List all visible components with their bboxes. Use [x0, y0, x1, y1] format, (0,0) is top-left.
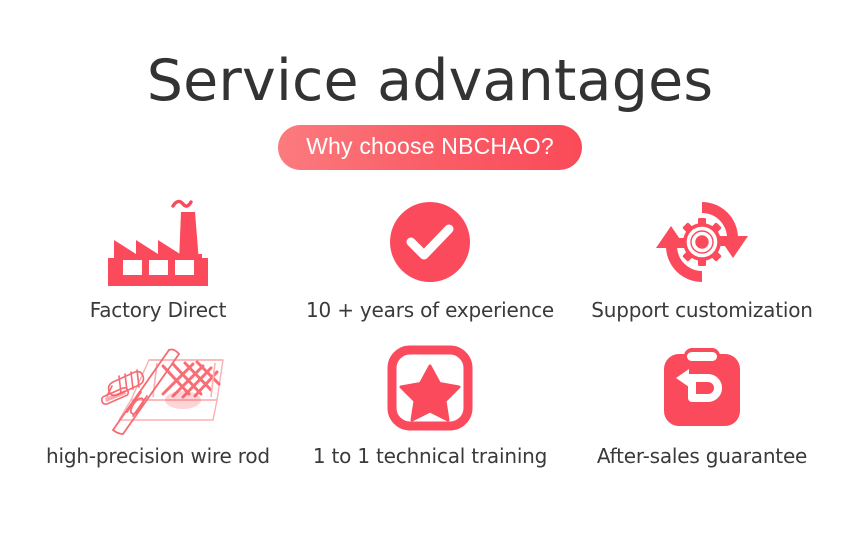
gear-refresh-icon: [654, 192, 750, 292]
factory-icon: [96, 192, 220, 292]
page-title: Service advantages: [0, 52, 860, 112]
feature-label: After-sales guarantee: [597, 444, 807, 468]
feature-item-after-sales: After-sales guarantee: [566, 338, 838, 484]
return-clipboard-icon: [659, 338, 745, 438]
feature-item-customization: Support customization: [566, 192, 838, 338]
wire-rod-icon: [83, 338, 233, 438]
feature-label: Support customization: [591, 298, 813, 322]
why-choose-badge: Why choose NBCHAO?: [278, 125, 582, 170]
banner-header: Service advantages Why choose NBCHAO?: [0, 0, 860, 170]
feature-label: Factory Direct: [90, 298, 227, 322]
check-circle-icon: [389, 192, 471, 292]
badge-container: Why choose NBCHAO?: [0, 125, 860, 170]
service-advantages-banner: Service advantages Why choose NBCHAO?: [0, 0, 860, 548]
feature-label: 10 + years of experience: [306, 298, 554, 322]
feature-label: 1 to 1 technical training: [313, 444, 547, 468]
feature-item-training: 1 to 1 technical training: [294, 338, 566, 484]
feature-label: high-precision wire rod: [46, 444, 270, 468]
features-grid: Factory Direct 10 + years of experience: [0, 192, 860, 484]
feature-item-experience: 10 + years of experience: [294, 192, 566, 338]
star-square-icon: [387, 338, 473, 438]
feature-item-wire-rod: high-precision wire rod: [22, 338, 294, 484]
feature-item-factory-direct: Factory Direct: [22, 192, 294, 338]
